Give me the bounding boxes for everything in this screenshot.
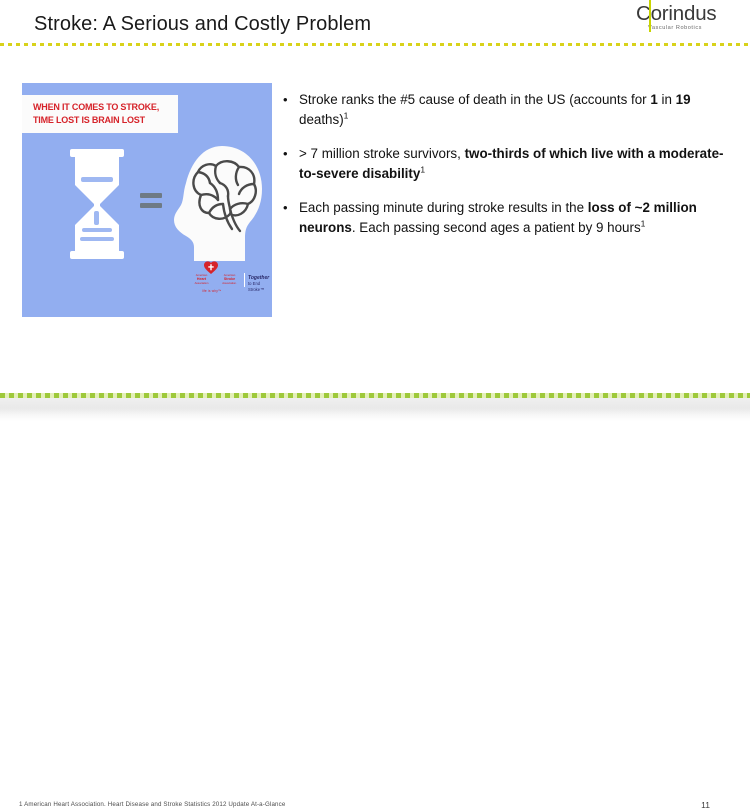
equals-icon	[140, 193, 162, 211]
bullet-item: Stroke ranks the #5 cause of death in th…	[282, 90, 740, 129]
aha-org-names: American Heart Association American Stro…	[190, 274, 242, 286]
aha-logo-lockup: American Heart Association American Stro…	[190, 261, 270, 297]
bullet-item: > 7 million stroke survivors, two-thirds…	[282, 144, 740, 183]
footer-band: 1 American Heart Association. Heart Dise…	[0, 398, 750, 421]
head-brain-icon	[170, 143, 265, 263]
campaign-line-2: to End Stroke™	[248, 281, 270, 292]
page-title: Stroke: A Serious and Costly Problem	[34, 13, 371, 36]
logo-accent-mark	[649, 0, 651, 32]
american-heart-association-name: American Heart Association	[190, 274, 213, 286]
together-to-end-stroke-lockup: Together to End Stroke™	[248, 275, 270, 292]
life-is-why-tagline: life is why™	[202, 289, 221, 293]
stroke-infographic-panel: WHEN IT COMES TO STROKE, TIME LOST IS BR…	[22, 83, 272, 317]
logo-wordmark: Corindus	[636, 3, 736, 24]
corindus-logo: Corindus Vascular Robotics	[636, 3, 736, 37]
bullet-list: Stroke ranks the #5 cause of death in th…	[282, 90, 740, 237]
page-number: 11	[701, 800, 710, 810]
american-stroke-association-name: American Stroke Association.	[218, 274, 241, 286]
aha-org2-line3: Association.	[218, 282, 241, 286]
slide-canvas: Stroke: A Serious and Costly Problem Cor…	[0, 0, 750, 421]
banner-line-2: TIME LOST IS BRAIN LOST	[33, 114, 169, 127]
footnote-citation: 1 American Heart Association. Heart Dise…	[19, 801, 285, 808]
banner-line-1: WHEN IT COMES TO STROKE,	[33, 101, 169, 114]
hourglass-icon	[68, 149, 126, 259]
title-divider-dotted	[0, 43, 750, 46]
infographic-equation-row	[22, 141, 272, 266]
aha-org1-line3: Association	[190, 282, 213, 286]
infographic-banner: WHEN IT COMES TO STROKE, TIME LOST IS BR…	[22, 95, 178, 133]
bullet-item: Each passing minute during stroke result…	[282, 198, 740, 237]
logo-divider	[244, 273, 245, 287]
logo-tagline: Vascular Robotics	[648, 25, 736, 31]
